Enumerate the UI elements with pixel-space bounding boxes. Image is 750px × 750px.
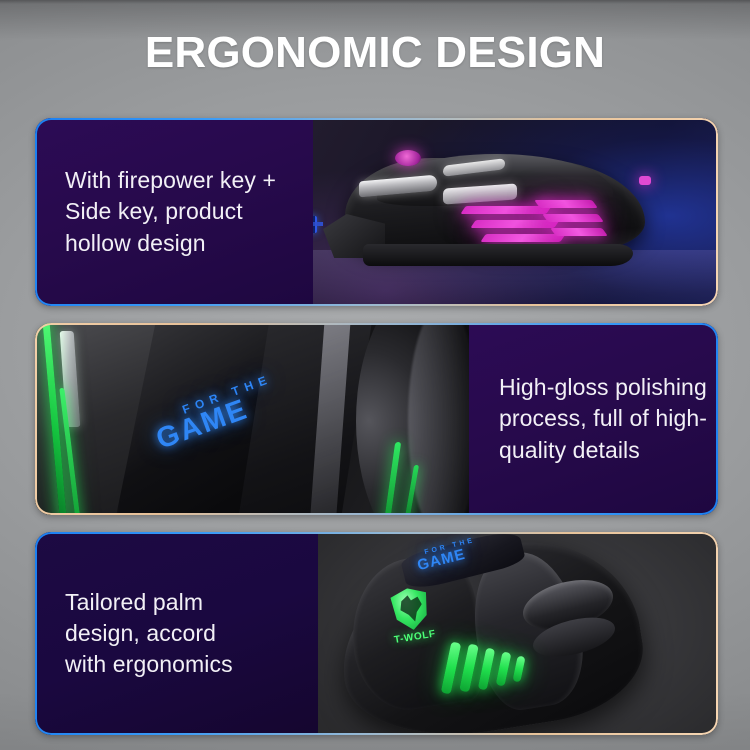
feature-panel-3: Tailored palm design, accord with ergono… — [35, 532, 718, 735]
mouse-base — [363, 244, 633, 266]
caption-text-2: High-gloss polishing process, full of hi… — [469, 372, 717, 466]
led-side-dot — [639, 176, 651, 185]
led-chevron-2 — [470, 220, 559, 228]
page-title: ERGONOMIC DESIGN — [0, 30, 750, 76]
led-chevron-1 — [460, 206, 551, 214]
mouse-macro-gloss-photo: FOR THE GAME — [35, 323, 469, 515]
scroll-wheel — [395, 150, 421, 166]
mouse-side-view-photo — [313, 118, 718, 306]
feature-panel-1: With firepower key + Side key, product h… — [35, 118, 718, 306]
caption-block-3: Tailored palm design, accord with ergono… — [35, 532, 318, 735]
caption-text-1: With firepower key + Side key, product h… — [35, 165, 286, 259]
led-chevron-6 — [550, 228, 608, 236]
led-chevron-5 — [542, 214, 604, 222]
feature-panel-2: FOR THE GAME High-gloss polishing proces… — [35, 323, 718, 515]
cable-line — [313, 222, 323, 226]
caption-block-1: With firepower key + Side key, product h… — [35, 118, 313, 306]
mouse-top-view-photo: FOR THE GAME T-WOLF — [318, 532, 718, 735]
caption-text-3: Tailored palm design, accord with ergono… — [35, 587, 243, 681]
t-wolf-logo: T-WOLF — [379, 584, 444, 654]
caption-block-2: High-gloss polishing process, full of hi… — [469, 323, 718, 515]
mouse-top-illustration: FOR THE GAME T-WOLF — [326, 538, 656, 734]
led-chevron-4 — [534, 200, 598, 208]
brand-name: T-WOLF — [386, 627, 443, 647]
mouse-side-illustration — [323, 152, 663, 274]
shell-highlight-right — [408, 323, 469, 515]
led-chevron-3 — [480, 234, 565, 242]
